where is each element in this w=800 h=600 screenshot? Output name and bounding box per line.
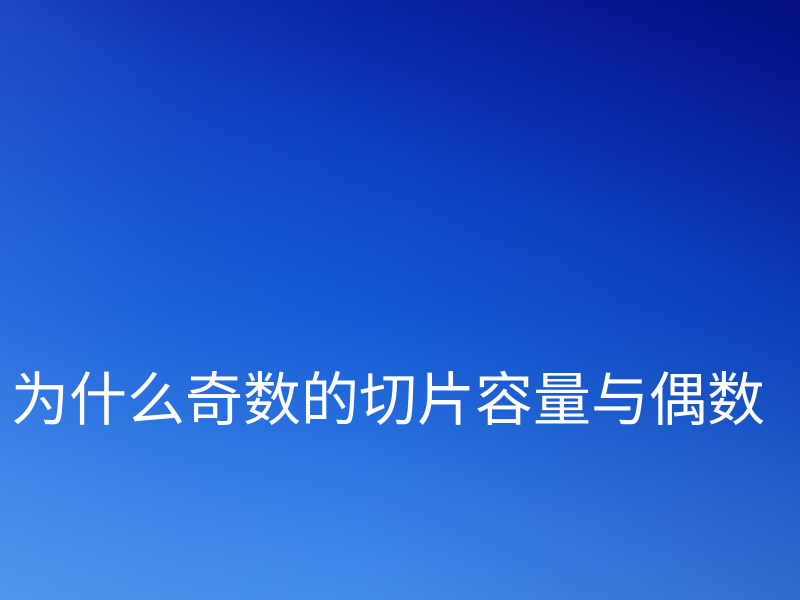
headline-line-1: 为什么奇数的切片容量与偶数 (11, 361, 800, 439)
banner-canvas: 为什么奇数的切片容量与偶数 的行为不同 (0, 0, 800, 600)
page-title: 为什么奇数的切片容量与偶数 的行为不同 (11, 205, 800, 600)
headline-line-2: 的行为不同 (11, 595, 800, 600)
